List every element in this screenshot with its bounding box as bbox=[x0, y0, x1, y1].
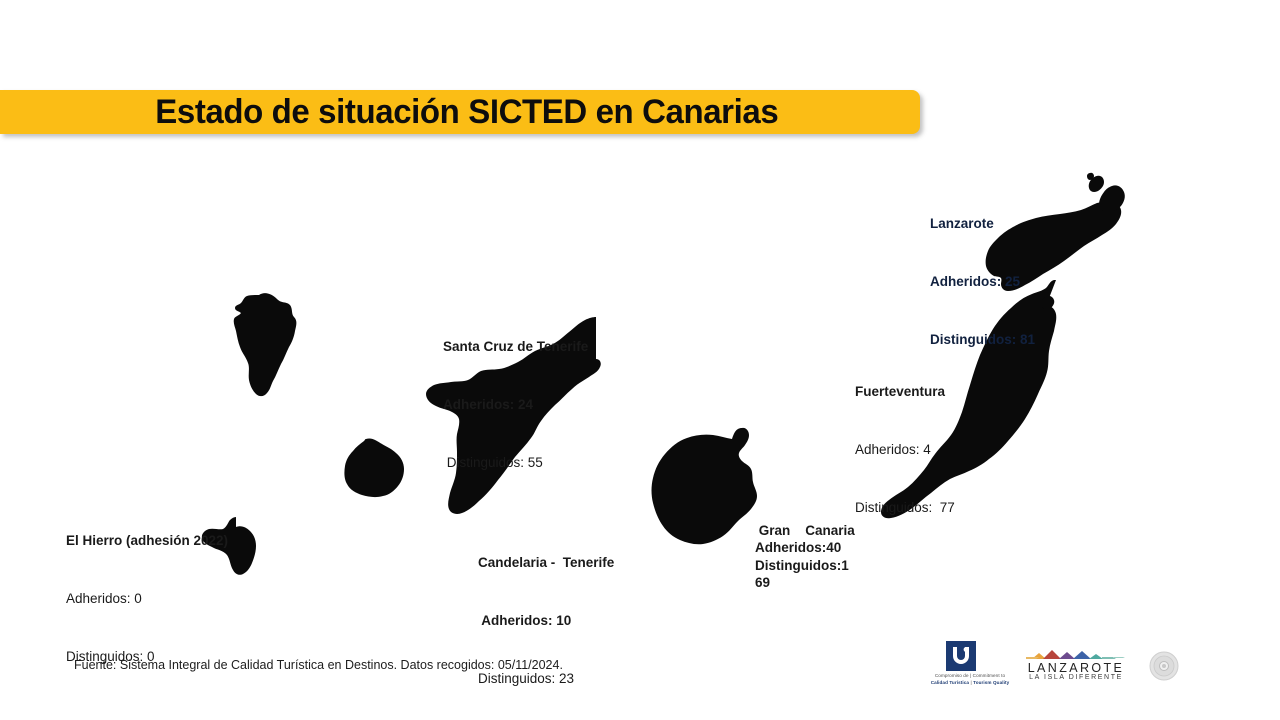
sicted-tagline-right-bottom: Tourism Quality bbox=[973, 680, 1009, 685]
label-gran-canaria-adheridos: Adheridos:40 bbox=[755, 539, 855, 556]
label-lanzarote-name: Lanzarote bbox=[930, 215, 1035, 232]
label-candelaria-tenerife: Candelaria - Tenerife Adheridos: 10 Dist… bbox=[478, 513, 614, 708]
lanzarote-brand-tagline: LA ISLA DIFERENTE bbox=[1026, 674, 1126, 681]
label-el-hierro-name: El Hierro (adhesión 2022) bbox=[66, 532, 228, 549]
sicted-tagline-left-bottom: Calidad Turística bbox=[931, 680, 969, 685]
sicted-tagline-right-top: Commitment to bbox=[973, 673, 1005, 678]
island-la-gomera bbox=[344, 438, 404, 497]
page-title: Estado de situación SICTED en Canarias bbox=[14, 90, 906, 134]
island-la-graciosa bbox=[1089, 176, 1104, 192]
label-el-hierro-adheridos: Adheridos: 0 bbox=[66, 590, 228, 607]
footer-source-text: Fuente: Sistema Integral de Calidad Turí… bbox=[74, 658, 563, 672]
label-el-hierro: El Hierro (adhesión 2022) Adheridos: 0 D… bbox=[66, 491, 228, 686]
lanzarote-brand-name: LANZAROTE bbox=[1026, 661, 1126, 675]
label-fuerteventura-name: Fuerteventura bbox=[855, 383, 955, 400]
label-candelaria-name: Candelaria - Tenerife bbox=[478, 554, 614, 571]
lanzarote-brand-logo: LANZAROTE LA ISLA DIFERENTE bbox=[1026, 647, 1126, 683]
label-gran-canaria: Gran Canaria Adheridos:40 Distinguidos:1… bbox=[755, 522, 855, 591]
label-lanzarote: Lanzarote Adheridos: 25 Distinguidos: 81 bbox=[930, 174, 1035, 369]
sicted-logo-tagline: Compromiso de | Commitment to Calidad Tu… bbox=[924, 673, 1016, 687]
lanzarote-mountains-icon bbox=[1026, 647, 1126, 661]
sicted-quality-logo: Compromiso de | Commitment to Calidad Tu… bbox=[924, 641, 1016, 689]
label-gran-canaria-name: Gran Canaria bbox=[755, 522, 855, 539]
island-lanzarote-north bbox=[1099, 185, 1125, 212]
label-fuerteventura: Fuerteventura Adheridos: 4 Distinguidos:… bbox=[855, 342, 955, 537]
island-la-palma bbox=[234, 293, 297, 396]
label-candelaria-distinguidos: Distinguidos: 23 bbox=[478, 670, 614, 687]
circular-seal-emblem bbox=[1148, 650, 1180, 682]
label-santa-cruz-adheridos: Adheridos: 24 bbox=[443, 396, 588, 413]
label-gran-canaria-distinguidos: Distinguidos:169 bbox=[755, 557, 855, 592]
label-fuerteventura-distinguidos: Distinguidos: 77 bbox=[855, 499, 955, 516]
label-candelaria-adheridos: Adheridos: 10 bbox=[478, 612, 614, 629]
island-gran-canaria bbox=[652, 428, 758, 544]
label-lanzarote-adheridos: Adheridos: 25 bbox=[930, 273, 1035, 290]
island-montana-clara bbox=[1087, 173, 1094, 180]
label-santa-cruz-name: Santa Cruz de Tenerife bbox=[443, 338, 588, 355]
label-fuerteventura-adheridos: Adheridos: 4 bbox=[855, 441, 955, 458]
sicted-tagline-left-top: Compromiso de bbox=[935, 673, 969, 678]
label-santa-cruz-de-tenerife: Santa Cruz de Tenerife Adheridos: 24 Dis… bbox=[443, 297, 588, 492]
sicted-logo-mark bbox=[946, 641, 976, 671]
label-santa-cruz-distinguidos: Distinguidos: 55 bbox=[443, 454, 588, 471]
island-isla-de-lobos bbox=[1042, 296, 1055, 310]
